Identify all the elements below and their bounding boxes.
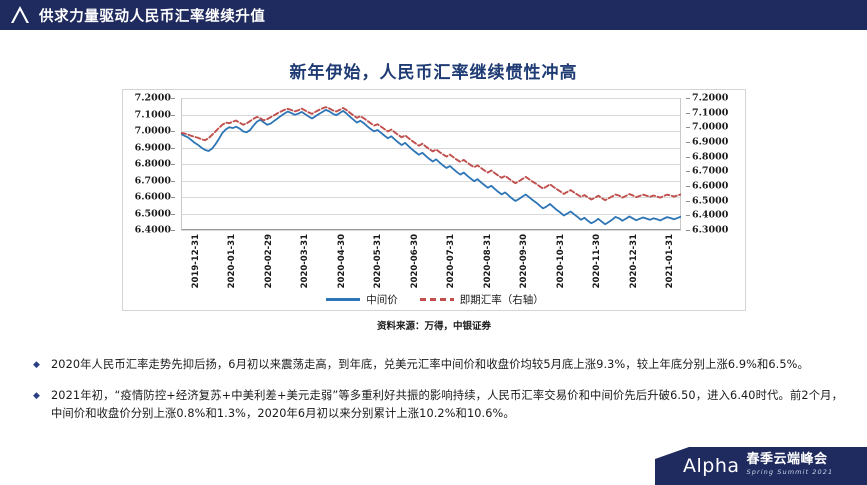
y-tick-label: 6.8000: [123, 159, 175, 169]
y-tick-mark: [171, 230, 175, 231]
x-tick-label: 2020-04-30: [337, 234, 347, 288]
chart-container: 7.20007.10007.00006.90006.80006.70006.60…: [122, 89, 746, 311]
x-tick-label: 2020-03-31: [300, 234, 310, 288]
footer-summit-names: 春季云端峰会 Spring Summit 2021: [747, 453, 834, 476]
x-tick-label: 2020-07-31: [446, 234, 456, 288]
footer-content: Alpha 春季云端峰会 Spring Summit 2021: [683, 453, 833, 476]
chart-title: 新年伊始，人民币汇率继续惯性冲高: [0, 58, 867, 83]
y-tick-mark: [686, 142, 690, 143]
x-tick-label: 2021-01-31: [665, 234, 675, 288]
y-tick-label: 6.9000: [123, 143, 175, 153]
bullet-marker-icon: ◆: [33, 356, 51, 374]
x-tick-label: 2020-11-30: [592, 234, 602, 288]
y-tick-label: 7.1000: [686, 108, 738, 118]
y-tick-mark: [171, 115, 175, 116]
y-tick-mark: [686, 113, 690, 114]
bullet-text: 2021年初，“疫情防控+经济复苏+中美利差+美元走弱”等多重利好共振的影响持续…: [51, 387, 843, 422]
footer-summit-en: Spring Summit 2021: [747, 468, 834, 476]
y-tick-label: 6.6000: [123, 192, 175, 202]
y-tick-label: 6.5000: [686, 196, 738, 206]
y-tick-mark: [686, 157, 690, 158]
header-title: 供求力量驱动人民币汇率继续升值: [39, 5, 266, 26]
y-tick-mark: [686, 98, 690, 99]
chart-lines: [181, 98, 681, 230]
y-axis-right: 7.20007.10007.00006.90006.80006.70006.60…: [686, 98, 738, 230]
legend-item-mid-rate: 中间价: [326, 292, 398, 307]
chart-source-note: 资料来源：万得，中银证券: [122, 318, 746, 332]
footer-summit-cn: 春季云端峰会: [747, 453, 828, 467]
gridline: [181, 230, 681, 231]
y-tick-mark: [686, 171, 690, 172]
footer-brand: Alpha: [683, 457, 740, 476]
y-tick-label: 6.5000: [123, 209, 175, 219]
series-line-1: [181, 110, 681, 224]
y-tick-label: 7.0000: [686, 123, 738, 133]
bullet-item: ◆2020年人民币汇率走势先抑后扬，6月初以来震荡走高，到年底，兑美元汇率中间价…: [33, 356, 843, 374]
bullet-marker-icon: ◆: [33, 387, 51, 405]
legend-swatch-dashed-red: [420, 298, 454, 301]
y-tick-label: 7.0000: [123, 126, 175, 136]
chart-legend: 中间价 即期汇率（右轴）: [123, 292, 747, 307]
y-tick-label: 6.7000: [686, 167, 738, 177]
legend-label-spot-rate: 即期汇率（右轴）: [460, 292, 544, 307]
y-tick-label: 6.3000: [686, 225, 738, 235]
slide-root: 供求力量驱动人民币汇率继续升值 新年伊始，人民币汇率继续惯性冲高 7.20007…: [0, 0, 867, 485]
alpha-triangle-logo-icon: [9, 4, 31, 26]
series-line-2: [181, 107, 681, 200]
x-tick-label: 2020-12-31: [629, 234, 639, 288]
y-tick-mark: [171, 181, 175, 182]
legend-label-mid-rate: 中间价: [366, 292, 398, 307]
y-tick-label: 6.9000: [686, 137, 738, 147]
y-tick-label: 6.4000: [686, 211, 738, 221]
x-tick-label: 2020-02-29: [264, 234, 274, 288]
plot-area: [181, 98, 681, 230]
legend-item-spot-rate: 即期汇率（右轴）: [420, 292, 544, 307]
y-tick-label: 7.1000: [123, 110, 175, 120]
bullet-text: 2020年人民币汇率走势先抑后扬，6月初以来震荡走高，到年底，兑美元汇率中间价和…: [51, 356, 843, 374]
y-tick-mark: [171, 98, 175, 99]
bullet-item: ◆2021年初，“疫情防控+经济复苏+中美利差+美元走弱”等多重利好共振的影响持…: [33, 387, 843, 422]
y-tick-mark: [171, 148, 175, 149]
x-tick-label: 2020-01-31: [227, 234, 237, 288]
x-tick-label: 2020-05-31: [373, 234, 383, 288]
y-tick-mark: [686, 230, 690, 231]
x-tick-label: 2020-09-30: [519, 234, 529, 288]
x-tick-label: 2020-10-31: [556, 234, 566, 288]
x-tick-label: 2020-06-30: [410, 234, 420, 288]
x-tick-label: 2020-08-31: [483, 234, 493, 288]
y-axis-left: 7.20007.10007.00006.90006.80006.70006.60…: [123, 98, 175, 230]
footer-logo: Alpha 春季云端峰会 Spring Summit 2021: [655, 447, 867, 485]
y-tick-mark: [171, 164, 175, 165]
bullet-list: ◆2020年人民币汇率走势先抑后扬，6月初以来震荡走高，到年底，兑美元汇率中间价…: [33, 356, 843, 435]
y-tick-mark: [686, 186, 690, 187]
y-tick-mark: [686, 201, 690, 202]
y-tick-label: 6.7000: [123, 176, 175, 186]
y-tick-mark: [686, 127, 690, 128]
y-tick-label: 7.2000: [686, 93, 738, 103]
y-tick-mark: [171, 214, 175, 215]
y-tick-label: 6.4000: [123, 225, 175, 235]
y-tick-label: 7.2000: [123, 93, 175, 103]
y-tick-mark: [686, 215, 690, 216]
x-tick-label: 2019-12-31: [191, 234, 201, 288]
y-tick-mark: [171, 197, 175, 198]
legend-swatch-solid-blue: [326, 298, 360, 301]
y-tick-label: 6.8000: [686, 152, 738, 162]
y-tick-label: 6.6000: [686, 181, 738, 191]
header-banner: 供求力量驱动人民币汇率继续升值: [0, 0, 867, 30]
x-axis: 2019-12-312020-01-312020-02-292020-03-31…: [181, 232, 681, 294]
y-tick-mark: [171, 131, 175, 132]
